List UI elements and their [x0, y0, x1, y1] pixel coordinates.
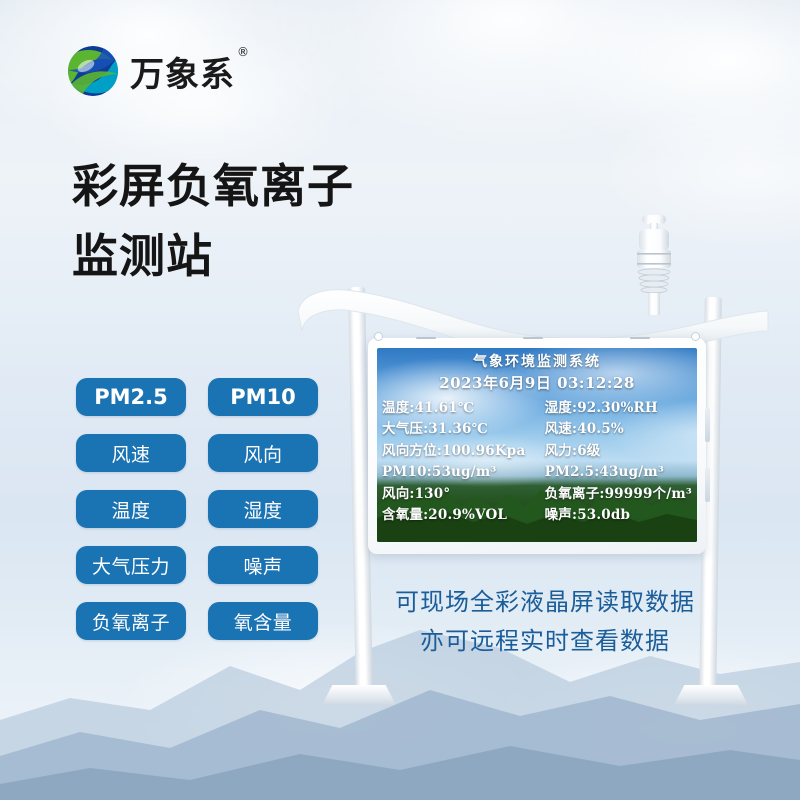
lcd-reading-grid: 温度:41.61℃ 湿度:92.30%RH 大气压:31.36℃ 风速:40.5… [382, 398, 692, 526]
feature-caption-line2: 亦可远程实时查看数据 [380, 622, 710, 661]
feature-tag-negative-oxygen-ion[interactable]: 负氧离子 [76, 602, 186, 640]
reading-wind-speed: 风速:40.5% [537, 419, 692, 440]
mount-hook-left [374, 332, 383, 341]
reading-humidity: 湿度:92.30%RH [537, 398, 692, 419]
lcd-datetime: 2023年6月9日 03:12:28 [382, 373, 692, 394]
weather-sensor-icon [622, 213, 686, 317]
feature-tag-air-pressure[interactable]: 大气压力 [76, 546, 186, 584]
brand-name-text: 万象系 [130, 55, 235, 95]
reading-temperature: 温度:41.61℃ [382, 398, 531, 419]
registered-mark: ® [237, 45, 250, 59]
reading-wind-force: 风力:6级 [537, 441, 692, 462]
reading-oxygen-content: 含氧量:20.9%VOL [382, 505, 531, 526]
feature-caption: 可现场全彩液晶屏读取数据 亦可远程实时查看数据 [380, 583, 710, 661]
cloud-decoration [250, 0, 770, 150]
promo-banner: 万象系® 彩屏负氧离子 监测站 PM2.5 PM10 风速 风向 温度 湿度 大… [0, 0, 800, 800]
mount-hook-right [691, 332, 700, 341]
feature-tag-temperature[interactable]: 温度 [76, 490, 186, 528]
pole-base-right [674, 685, 748, 705]
lcd-screen: 气象环境监测系统 2023年6月9日 03:12:28 温度:41.61℃ 湿度… [377, 348, 697, 542]
page-title-line1: 彩屏负氧离子 [72, 159, 354, 213]
reading-pm25: PM2.5:43ug/m³ [537, 462, 692, 483]
globe-swirl-logo-icon [66, 44, 120, 98]
pole-base-left [322, 685, 396, 705]
brand-logo: 万象系® [66, 44, 235, 98]
feature-tag-wind-speed[interactable]: 风速 [76, 434, 186, 472]
reading-wind-bearing: 风向方位:100.96Kpa [382, 441, 531, 462]
reading-negative-oxygen-ion: 负氧离子:99999个/m³ [537, 484, 692, 505]
reading-noise: 噪声:53.0db [537, 505, 692, 526]
reading-pm10: PM10:53ug/m³ [382, 462, 531, 483]
reading-air-pressure: 大气压:31.36℃ [382, 419, 531, 440]
cabinet-side-vent [705, 408, 710, 442]
cabinet-slot [523, 337, 543, 339]
lcd-readout: 气象环境监测系统 2023年6月9日 03:12:28 温度:41.61℃ 湿度… [377, 348, 697, 542]
lcd-display-cabinet: 气象环境监测系统 2023年6月9日 03:12:28 温度:41.61℃ 湿度… [368, 338, 706, 554]
cabinet-slot [416, 337, 436, 339]
brand-name: 万象系® [130, 47, 235, 96]
feature-caption-line1: 可现场全彩液晶屏读取数据 [395, 588, 695, 616]
feature-tag-pm25[interactable]: PM2.5 [76, 378, 186, 416]
cloud-decoration [540, 0, 800, 160]
reading-wind-direction: 风向:130° [382, 484, 531, 505]
feature-tag-grid: PM2.5 PM10 风速 风向 温度 湿度 大气压力 噪声 负氧离子 氧含量 [76, 378, 318, 640]
cabinet-side-vent [705, 468, 710, 502]
lcd-title: 气象环境监测系统 [382, 354, 692, 372]
cabinet-slot [630, 337, 650, 339]
